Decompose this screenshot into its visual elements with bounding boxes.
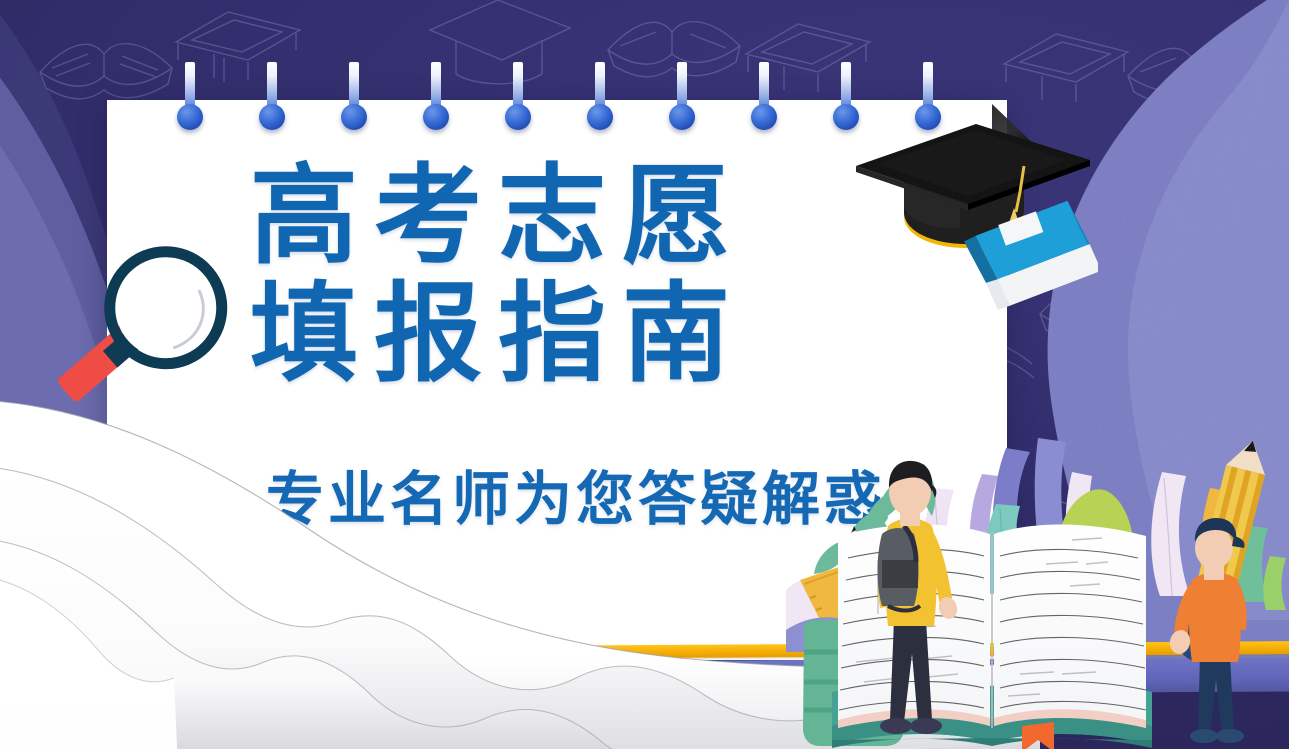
- students-reading-illustration: [786, 430, 1289, 749]
- title-line-1: 高考志愿: [250, 158, 890, 276]
- open-book-icon: [598, 0, 748, 102]
- poster-canvas: 高考志愿 填报指南 专业名师为您答疑解惑: [0, 0, 1289, 749]
- graduation-cap-icon: [420, 0, 580, 106]
- title-block: 高考志愿 填报指南: [250, 158, 890, 394]
